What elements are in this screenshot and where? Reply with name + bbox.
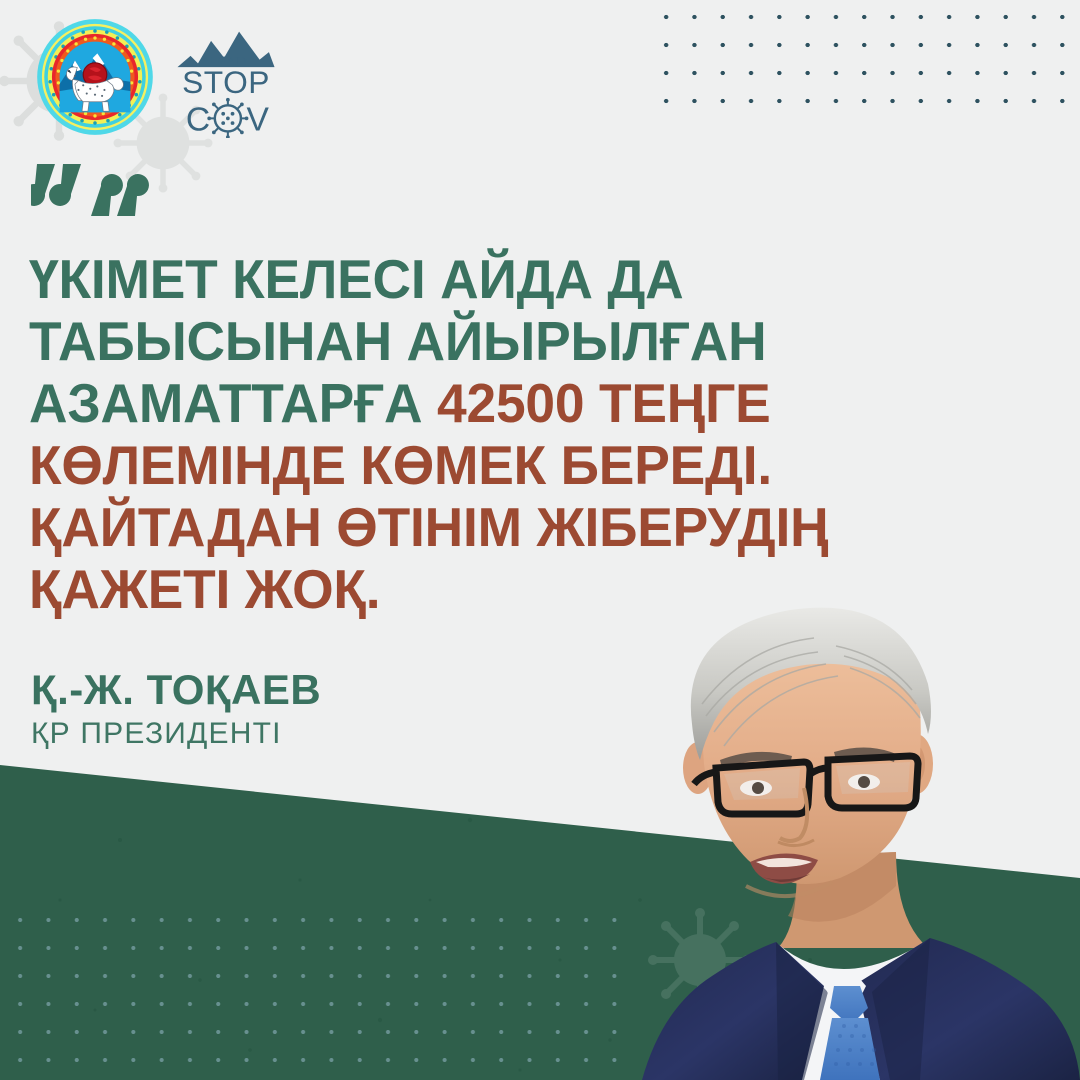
quote-card: ALMATY STOP C V xyxy=(0,0,1080,1080)
quote-amount: 42500 ТЕҢГЕ xyxy=(437,372,771,434)
almaty-city-emblem-icon xyxy=(36,18,154,136)
speaker-name: Қ.-Ж. ТОҚАЕВ xyxy=(31,666,321,714)
attribution: Қ.-Ж. ТОҚАЕВ ҚР ПРЕЗИДЕНТІ xyxy=(31,666,321,752)
dot-grid-pattern xyxy=(650,0,1080,104)
svg-text:V: V xyxy=(247,102,270,138)
president-portrait xyxy=(628,556,1080,1080)
svg-text:STOP: STOP xyxy=(182,64,270,100)
quote-line-1: ҮКІМЕТ КЕЛЕСІ АЙДА ДА xyxy=(29,248,902,310)
band-dot-grid-pattern xyxy=(0,900,640,1080)
quote-line-5: ҚАЙТАДАН ӨТІНІМ ЖІБЕРУДІҢ xyxy=(29,496,902,558)
quote-line-3-head: АЗАМАТТАРҒА xyxy=(29,372,437,434)
quote-line-2: ТАБЫСЫНАН АЙЫРЫЛҒАН xyxy=(29,310,902,372)
svg-text:C: C xyxy=(186,102,210,138)
quote-line-4: КӨЛЕМІНДЕ КӨМЕК БЕРЕДІ. xyxy=(29,434,902,496)
header-logos: ALMATY STOP C V xyxy=(0,0,330,160)
almaty-stop-cov-logo-icon: ALMATY STOP C V xyxy=(170,26,282,138)
speaker-role: ҚР ПРЕЗИДЕНТІ xyxy=(31,716,321,752)
quote-line-3: АЗАМАТТАРҒА 42500 ТЕҢГЕ xyxy=(29,372,902,434)
quotation-mark-icon xyxy=(31,160,151,224)
